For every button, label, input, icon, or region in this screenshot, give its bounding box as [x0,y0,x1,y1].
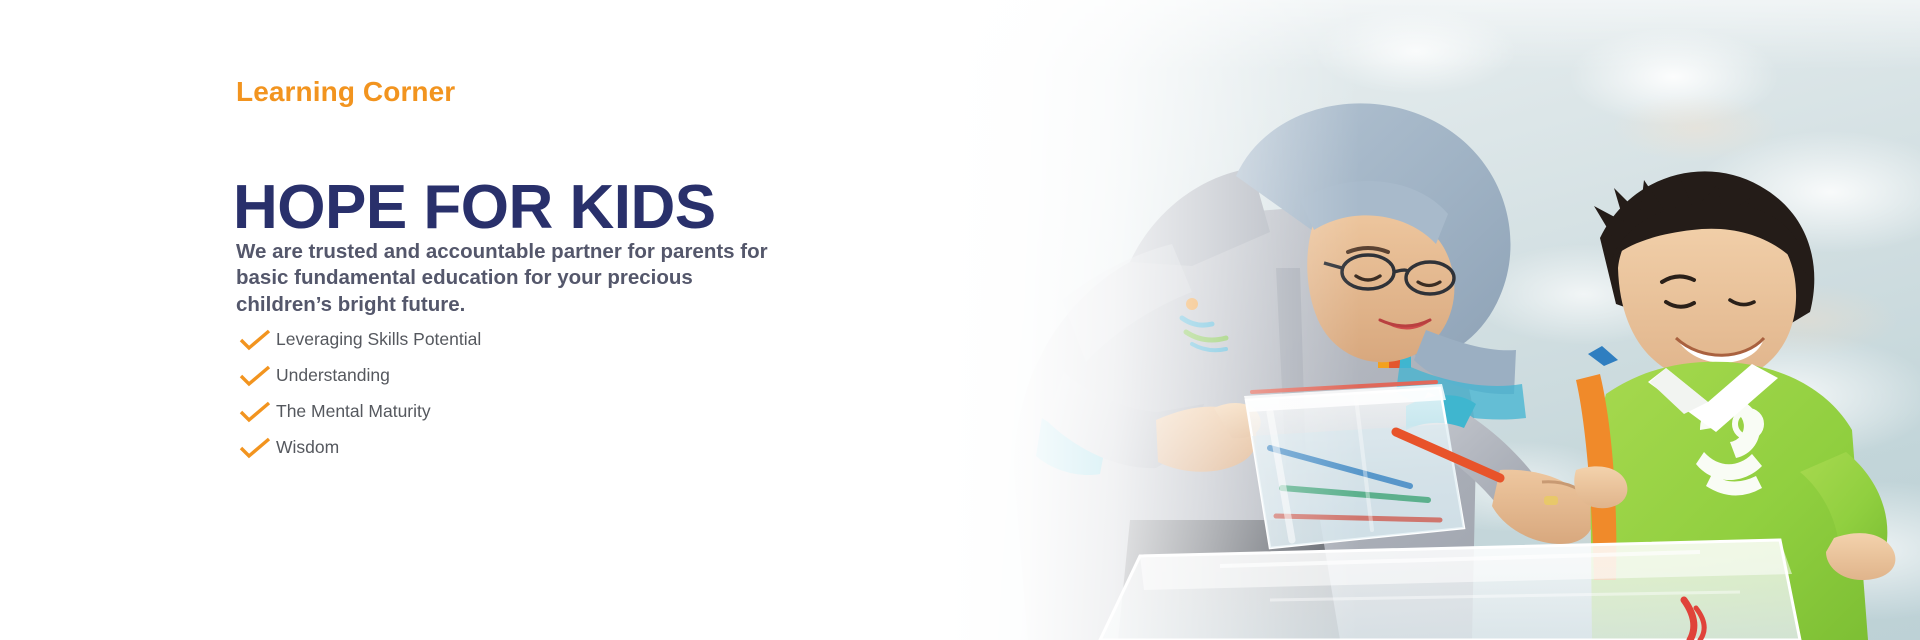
photo-inner [800,0,1920,640]
list-item-label: The Mental Maturity [276,403,431,421]
list-item: The Mental Maturity [238,394,481,430]
check-icon [238,437,272,459]
page-title: HOPE FOR KIDS [233,177,716,239]
hero-photo [800,0,1920,640]
hero-content: Learning Corner HOPE FOR KIDS We are tru… [236,0,936,640]
eyebrow-label: Learning Corner [236,76,455,108]
list-item-label: Leveraging Skills Potential [276,331,481,349]
list-item: Leveraging Skills Potential [238,322,481,358]
list-item-label: Wisdom [276,439,339,457]
list-item-label: Understanding [276,367,390,385]
list-item: Wisdom [238,430,481,466]
check-icon [238,365,272,387]
feature-checklist: Leveraging Skills Potential Understandin… [238,322,481,466]
check-icon [238,401,272,423]
list-item: Understanding [238,358,481,394]
hero-banner: Learning Corner HOPE FOR KIDS We are tru… [0,0,1920,640]
hero-description: We are trusted and accountable partner f… [236,239,781,319]
plastic-bin [1100,540,1800,640]
check-icon [238,329,272,351]
photo-illustration [800,0,1920,640]
